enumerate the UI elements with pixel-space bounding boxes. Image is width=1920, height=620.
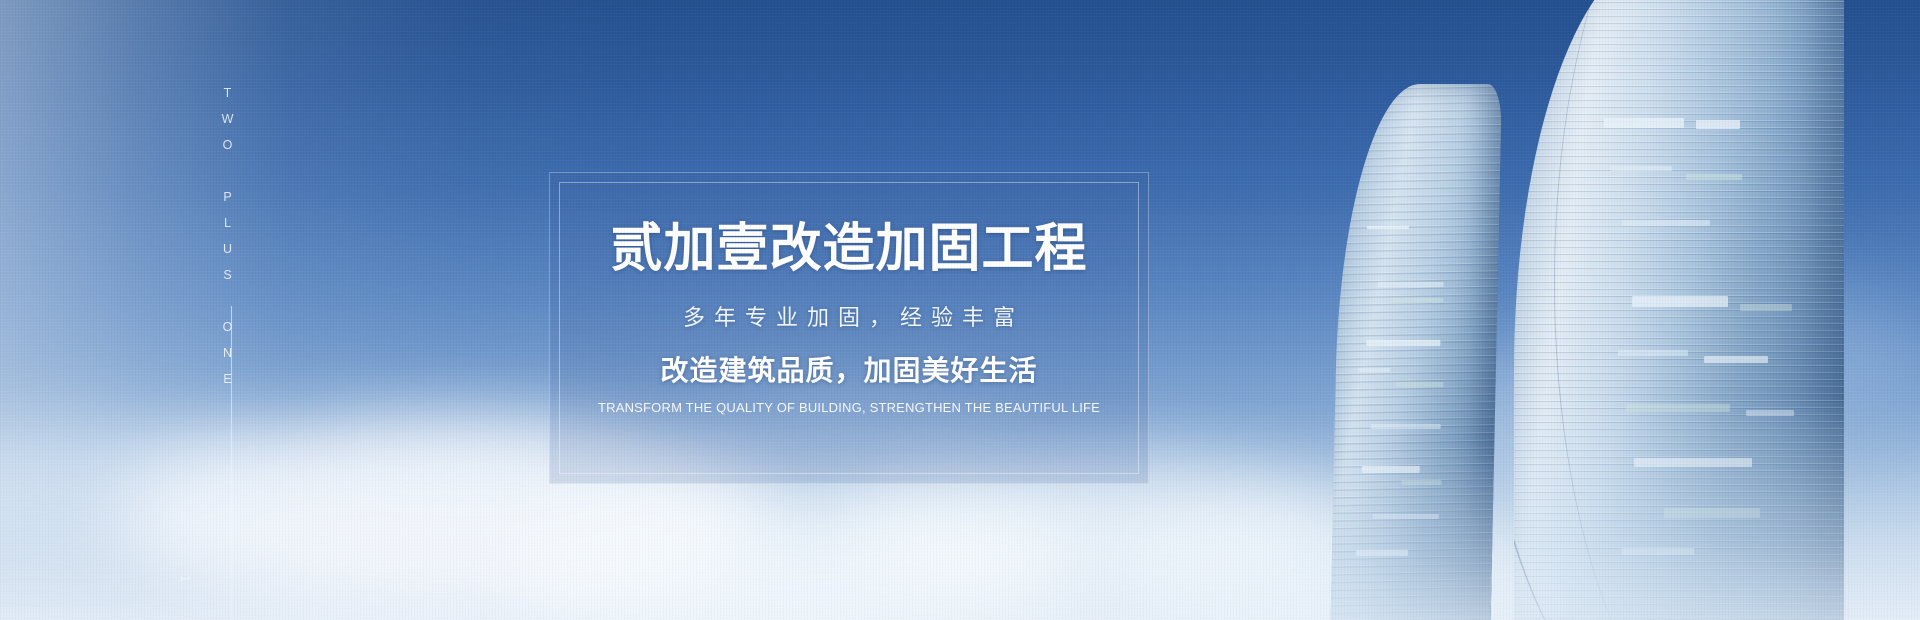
- hero-banner: TWO PLUS ONE 1 贰加壹改造加固工程 多年专业加固，经验丰富 改造建…: [0, 0, 1920, 620]
- window-light: [1371, 424, 1441, 429]
- window-light: [1610, 166, 1672, 171]
- window-light: [1618, 350, 1688, 356]
- brand-vertical-text: TWO PLUS ONE: [221, 86, 234, 398]
- window-light: [1396, 382, 1444, 387]
- tower-left: [1330, 84, 1502, 620]
- window-light: [1356, 550, 1408, 556]
- page-slogan: 改造建筑品质，加固美好生活: [550, 357, 1148, 385]
- window-light: [1604, 118, 1684, 128]
- window-light: [1358, 368, 1390, 372]
- brand-rail: TWO PLUS ONE 1: [228, 0, 230, 620]
- window-light: [1389, 298, 1443, 302]
- window-light: [1740, 304, 1792, 311]
- window-light: [1626, 404, 1730, 412]
- page-subtitle: 多年专业加固，经验丰富: [550, 307, 1148, 329]
- window-light: [1696, 120, 1740, 129]
- page-title: 贰加壹改造加固工程: [550, 223, 1148, 275]
- window-light: [1622, 548, 1694, 555]
- window-light: [1362, 466, 1420, 473]
- panel-content: 贰加壹改造加固工程 多年专业加固，经验丰富 改造建筑品质，加固美好生活 TRAN…: [550, 223, 1148, 414]
- tower-right-floor-bands: [1514, 0, 1844, 620]
- page-slogan-english: TRANSFORM THE QUALITY OF BUILDING, STREN…: [550, 401, 1148, 414]
- hero-text-panel: 贰加壹改造加固工程 多年专业加固，经验丰富 改造建筑品质，加固美好生活 TRAN…: [549, 172, 1149, 484]
- window-light: [1366, 340, 1440, 346]
- window-light: [1632, 296, 1728, 307]
- tower-left-floor-bands: [1330, 84, 1502, 620]
- tower-right: [1514, 0, 1844, 620]
- window-light: [1634, 458, 1752, 467]
- window-light: [1686, 174, 1742, 180]
- skyscraper-illustration: [1300, 0, 1920, 620]
- window-light: [1746, 410, 1794, 416]
- window-light: [1373, 514, 1439, 519]
- slide-number: 1: [179, 575, 192, 582]
- window-light: [1367, 226, 1409, 229]
- window-light: [1622, 220, 1710, 226]
- window-light: [1378, 282, 1444, 287]
- window-light: [1401, 480, 1441, 485]
- window-light: [1664, 508, 1760, 518]
- window-light: [1704, 356, 1768, 363]
